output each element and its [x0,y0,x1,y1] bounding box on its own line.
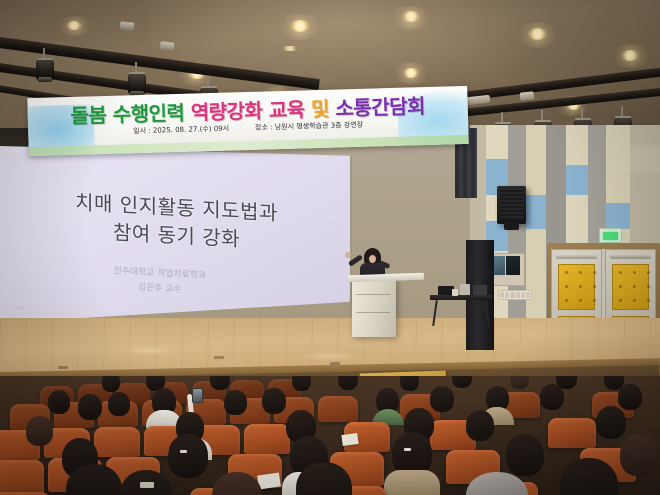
door-padded-panel [558,264,595,310]
banner-word-4: 및 [311,93,330,122]
event-banner: 돌봄 수행인력 역량강화 교육 및 소통간담회 일시 : 2025. 08. 2… [27,86,468,156]
podium-seam [356,294,390,295]
audience-head [596,406,626,439]
audience-head [506,434,544,476]
audience-head [168,434,208,478]
banner-word-3: 교육 [268,93,305,123]
downlight [403,68,419,78]
podium-seam [356,312,390,313]
downlight [290,20,310,32]
floor-vent [58,366,68,369]
audience-head [618,384,642,410]
audience-head [108,392,130,416]
floor-vent [214,356,224,359]
audience-head [540,384,564,410]
audience-head [48,390,70,414]
seat [244,424,290,454]
audience-head [224,390,247,415]
audience-head [430,386,454,412]
audience-head [338,376,358,390]
hair-clip [140,482,154,488]
audience-head [210,376,230,390]
slide-corner-note: 2025 [14,305,24,311]
window-glass [506,256,520,275]
audience-head [262,388,286,414]
presenter-hand [345,252,351,258]
audience-head [78,394,102,420]
audience-head [26,416,53,446]
equipment-box [473,285,487,295]
slide-subtitle: 전주대학교 작업치료학과 김은주 교수 [60,261,260,302]
banner-place: 장소 : 남원시 평생학습관 3층 강연장 [255,120,363,133]
seat [548,418,596,448]
floor-light-reflection [300,352,360,361]
seat [94,427,140,457]
hair-clip [404,448,411,451]
banner-word-1: 돌봄 수행인력 [70,97,185,129]
banner-date: 일시 : 2025. 08. 27.(수) 09시 [133,124,229,137]
speaker-bracket [504,222,519,230]
auditorium-photo: 치매 인지활동 지도법과 참여 동기 강화 전주대학교 작업치료학과 김은주 교… [0,0,660,495]
audience-head [292,376,311,391]
truss-barrel [520,91,535,100]
presenter-face [369,255,376,263]
exit-sign [599,228,622,243]
audience-head [400,376,419,391]
audience-area [0,376,660,495]
handout-paper [341,433,358,446]
banner-word-2: 역량강화 [190,95,262,126]
downlight [528,28,547,40]
smartphone[interactable] [192,388,203,403]
equipment-table [430,295,492,300]
speaker-grille [500,190,523,220]
audience-head [452,376,472,388]
floor-light-reflection [120,346,180,355]
audience-head [510,376,529,389]
downlight [402,11,420,22]
wall-speaker [497,186,526,224]
seat [318,396,358,422]
audience-head [466,410,494,441]
ceiling-strip-light [282,46,298,51]
podium [352,279,396,337]
water-bottle [460,284,470,295]
seat [0,460,44,494]
audience-head [102,376,120,392]
projection-screen: 치매 인지활동 지도법과 참여 동기 강화 전주대학교 작업치료학과 김은주 교… [0,146,350,323]
hair-clip [180,450,187,453]
downlight [621,50,639,61]
truss-barrel [120,21,135,30]
audience-shoulders [384,470,440,495]
cup [452,289,458,296]
wall-switch-panel[interactable] [498,290,532,300]
downlight [66,21,82,30]
door-push-bar [610,255,651,259]
slide-title: 치매 인지활동 지도법과 참여 동기 강화 [34,186,319,258]
truss-barrel [160,41,175,51]
audience-head [620,434,658,476]
banner-word-5: 소통간담회 [335,90,425,121]
exit-sign-glow [603,232,618,240]
door-padded-panel [612,264,649,310]
door-push-bar [556,255,597,259]
